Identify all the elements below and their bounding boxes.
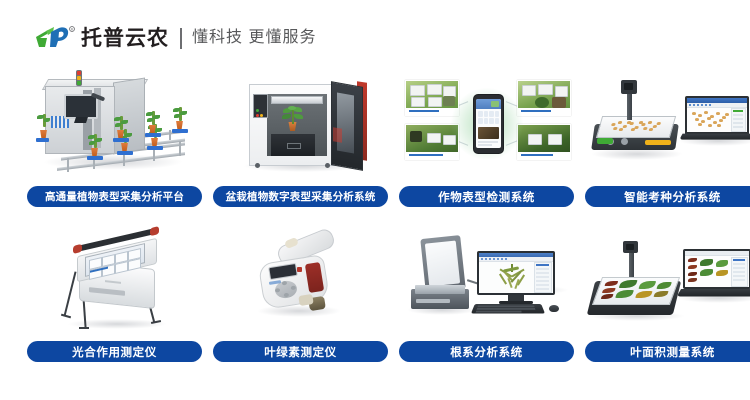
topcloud-tp-logo-icon: R xyxy=(32,23,78,53)
product-card-photosynthesis[interactable]: 光合作用测定仪 xyxy=(27,223,202,378)
product-catalog-page: R 托普云农 懂科技 更懂服务 xyxy=(0,0,750,400)
brand-lockup[interactable]: R 托普云农 懂科技 更懂服务 xyxy=(32,22,316,54)
product-label[interactable]: 高通量植物表型采集分析平台 xyxy=(27,186,202,207)
laptop-mockup xyxy=(681,96,750,140)
field-photo-card xyxy=(517,124,571,160)
potted-plant-digital-phenotyping-cabinet-photo xyxy=(213,68,388,180)
field-photo-card xyxy=(517,80,571,116)
product-row-2: 光合作用测定仪 xyxy=(0,223,750,378)
product-label[interactable]: 光合作用测定仪 xyxy=(27,341,202,362)
photosynthesis-measurement-instrument-photo xyxy=(27,223,202,335)
product-card-crop-phenotype[interactable]: 作物表型检测系统 xyxy=(399,68,574,223)
product-card-chlorophyll[interactable]: 叶绿素测定仪 xyxy=(213,223,388,378)
product-label[interactable]: 根系分析系统 xyxy=(399,341,574,362)
laptop-mockup xyxy=(679,249,750,297)
crop-phenotype-detection-mobile-system-photo xyxy=(399,68,574,180)
product-label[interactable]: 叶绿素测定仪 xyxy=(213,341,388,362)
brand-tagline: 懂科技 更懂服务 xyxy=(192,30,316,46)
product-card-potted-cabinet[interactable]: 盆栽植物数字表型采集分析系统 xyxy=(213,68,388,223)
product-card-seed-analysis[interactable]: 智能考种分析系统 xyxy=(585,68,750,223)
product-row-1: 高通量植物表型采集分析平台 xyxy=(0,68,750,223)
chlorophyll-meter-photo xyxy=(213,223,388,335)
leaf-area-measurement-system-photo xyxy=(585,223,750,335)
desktop-computer-mockup xyxy=(477,251,565,309)
product-card-leaf-area[interactable]: 叶面积测量系统 xyxy=(585,223,750,378)
brand-divider xyxy=(180,28,182,49)
product-grid: 高通量植物表型采集分析平台 xyxy=(0,68,750,378)
product-card-high-throughput[interactable]: 高通量植物表型采集分析平台 xyxy=(27,68,202,223)
field-photo-card xyxy=(405,80,459,116)
phone-mockup xyxy=(473,94,504,154)
product-card-root-system[interactable]: 根系分析系统 xyxy=(399,223,574,378)
root-system-analysis-system-photo xyxy=(399,223,574,335)
page-header: R 托普云农 懂科技 更懂服务 xyxy=(0,0,750,68)
intelligent-seed-testing-analysis-system-photo xyxy=(585,68,750,180)
brand-name: 托普云农 xyxy=(81,28,169,49)
product-label[interactable]: 作物表型检测系统 xyxy=(399,186,574,207)
high-throughput-plant-phenotyping-platform-photo xyxy=(27,68,202,180)
product-label[interactable]: 智能考种分析系统 xyxy=(585,186,750,207)
product-label[interactable]: 叶面积测量系统 xyxy=(585,341,750,362)
product-label[interactable]: 盆栽植物数字表型采集分析系统 xyxy=(213,186,388,207)
